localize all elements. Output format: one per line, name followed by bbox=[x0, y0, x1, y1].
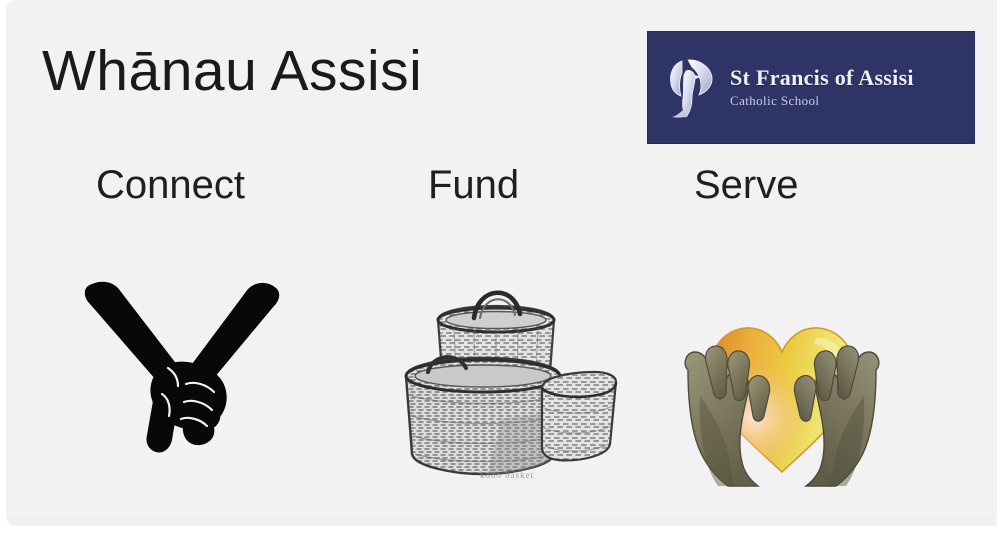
dove-icon bbox=[662, 55, 720, 121]
pillar-label-connect: Connect bbox=[96, 163, 245, 207]
logo-text-block: St Francis of Assisi Catholic School bbox=[730, 66, 914, 109]
school-logo-badge: St Francis of Assisi Catholic School bbox=[648, 32, 974, 143]
woven-baskets-icon bbox=[392, 268, 622, 496]
page-title: Whānau Assisi bbox=[42, 40, 422, 102]
slide-canvas: Whānau Assisi St Francis of Assisi bbox=[0, 0, 1000, 539]
heart-in-hands-icon bbox=[676, 276, 888, 490]
pillar-label-serve: Serve bbox=[694, 163, 799, 207]
pillar-label-fund: Fund bbox=[428, 163, 519, 207]
clasped-hands-icon bbox=[82, 268, 282, 458]
fund-art-caption: kono basket bbox=[392, 470, 622, 481]
logo-school-subtitle: Catholic School bbox=[730, 93, 914, 109]
logo-school-name: St Francis of Assisi bbox=[730, 66, 914, 90]
card-bottom-edge bbox=[6, 515, 997, 526]
